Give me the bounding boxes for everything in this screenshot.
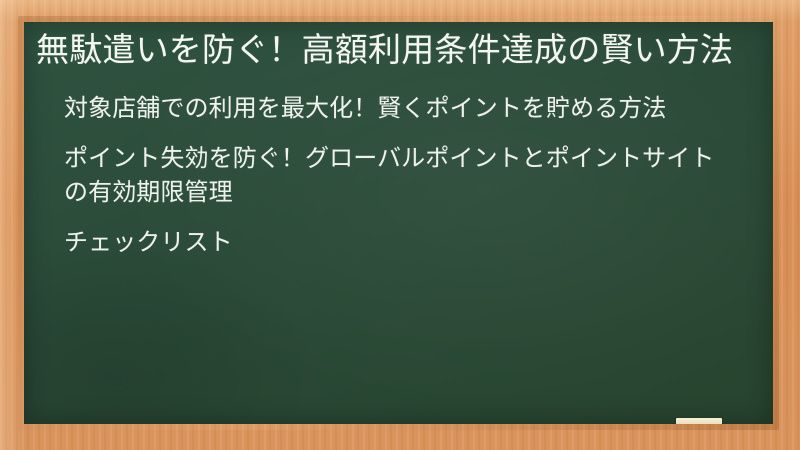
chalkboard-content: 無駄遣いを防ぐ！高額利用条件達成の賢い方法 対象店舗での利用を最大化！賢くポイン… [24, 22, 773, 424]
chalkboard-slide: 無駄遣いを防ぐ！高額利用条件達成の賢い方法 対象店舗での利用を最大化！賢くポイン… [0, 0, 800, 450]
page-title: 無駄遣いを防ぐ！高額利用条件達成の賢い方法 [32, 28, 759, 72]
topic-list: 対象店舗での利用を最大化！賢くポイントを貯める方法 ポイント失効を防ぐ！グローバ… [32, 92, 759, 260]
list-item: ポイント失効を防ぐ！グローバルポイントとポイントサイトの有効期限管理 [32, 142, 759, 210]
chalk-stick-icon [676, 418, 722, 424]
list-item: 対象店舗での利用を最大化！賢くポイントを貯める方法 [32, 92, 759, 126]
chalkboard-surface: 無駄遣いを防ぐ！高額利用条件達成の賢い方法 対象店舗での利用を最大化！賢くポイン… [24, 22, 773, 424]
list-item: チェックリスト [32, 226, 759, 260]
